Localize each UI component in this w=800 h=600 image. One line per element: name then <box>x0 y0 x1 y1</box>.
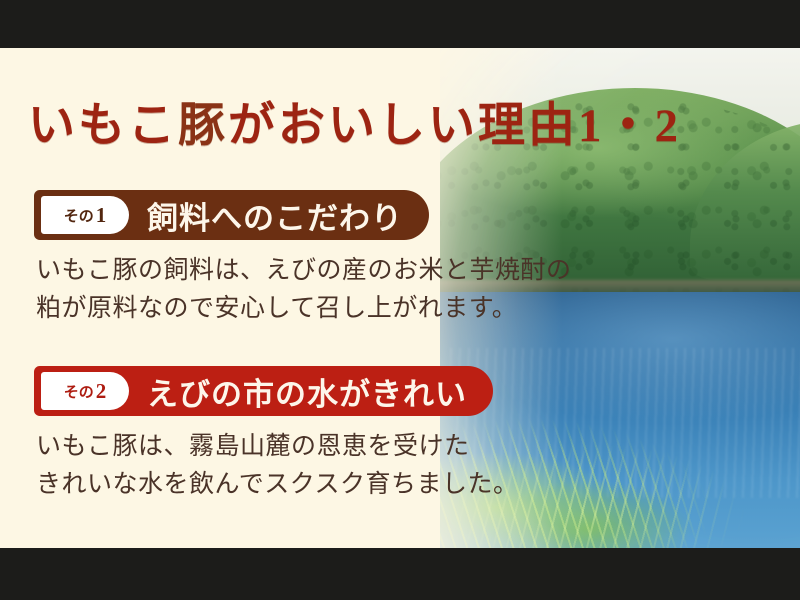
section-1-chip-number: 1 <box>96 203 107 228</box>
section-2-body-line-2: きれいな水を飲んでスクスク育ちました。 <box>36 467 519 503</box>
section-1-body-line-1: いもこ豚の飼料は、えびの産のお米と芋焼酎の <box>36 253 572 289</box>
slide-content: いもこ豚がおいしい理由1・2 その1 飼料へのこだわり いもこ豚の飼料は、えびの… <box>0 48 800 548</box>
section-reason-1: その1 飼料へのこだわり いもこ豚の飼料は、えびの産のお米と芋焼酎の 粕が原料な… <box>34 190 572 328</box>
page-title-part-c: がおいしい理由1・2 <box>228 100 681 152</box>
section-1-header-bar: その1 飼料へのこだわり <box>34 190 429 240</box>
letterbox-bottom <box>0 548 800 600</box>
page-title-part-b: 豚 <box>178 100 228 152</box>
slide-background: いもこ豚がおいしい理由1・2 その1 飼料へのこだわり いもこ豚の飼料は、えびの… <box>0 48 800 548</box>
section-reason-2: その2 えびの市の水がきれい いもこ豚は、霧島山麓の恩恵を受けた きれいな水を飲… <box>34 366 519 504</box>
section-2-body: いもこ豚は、霧島山麓の恩恵を受けた きれいな水を飲んでスクスク育ちました。 <box>36 429 519 502</box>
section-1-chip-prefix: その <box>64 205 94 226</box>
page-title-part-a: いもこ <box>28 100 178 152</box>
page-title: いもこ豚がおいしい理由1・2 <box>28 86 681 155</box>
section-1-title: 飼料へのこだわり <box>147 193 403 238</box>
section-2-chip-number: 2 <box>96 379 107 404</box>
section-2-title: えびの市の水がきれい <box>147 369 467 414</box>
section-2-body-line-1: いもこ豚は、霧島山麓の恩恵を受けた <box>36 429 519 465</box>
section-1-number-chip: その1 <box>41 196 129 234</box>
slide-canvas: いもこ豚がおいしい理由1・2 その1 飼料へのこだわり いもこ豚の飼料は、えびの… <box>0 0 800 600</box>
section-2-chip-prefix: その <box>64 381 94 402</box>
section-2-number-chip: その2 <box>41 372 129 410</box>
section-1-body-line-2: 粕が原料なので安心して召し上がれます。 <box>36 291 572 327</box>
section-1-body: いもこ豚の飼料は、えびの産のお米と芋焼酎の 粕が原料なので安心して召し上がれます… <box>36 253 572 326</box>
letterbox-top <box>0 0 800 48</box>
section-2-header-bar: その2 えびの市の水がきれい <box>34 366 493 416</box>
